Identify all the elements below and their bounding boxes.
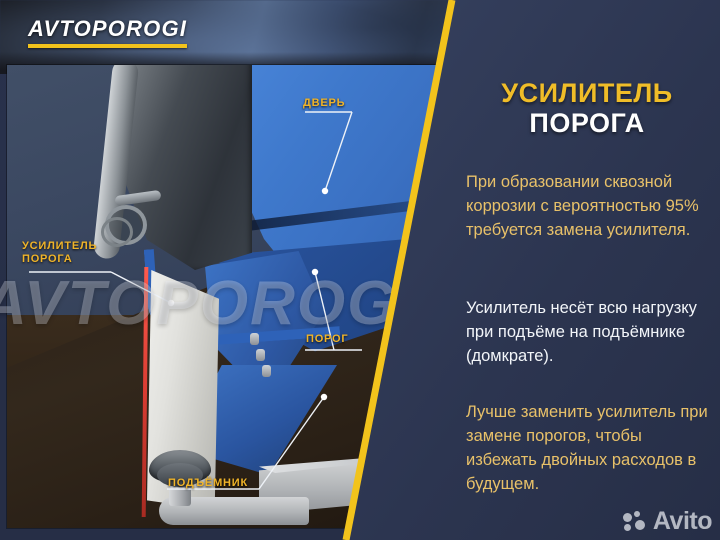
callout-label-reinforcement: УСИЛИТЕЛЬ ПОРОГА [22,240,97,266]
brand-logo: AVTOPOROGI [28,18,187,48]
callout-label-door: ДВЕРЬ [303,97,345,110]
callout-label-sill: ПОРОГ [306,333,348,346]
paragraph-advice: Лучше заменить усилитель при замене поро… [466,400,714,496]
title-line-2: ПОРОГА [462,108,712,138]
brand-logo-underline [28,44,187,48]
sill-stud [262,365,271,377]
sill-stud [256,349,265,361]
paragraph-corrosion: При образовании сквозной коррозии с веро… [466,170,714,242]
callout-label-lift: ПОДЪЁМНИК [168,477,248,490]
ad-image: ДВЕРЬ УСИЛИТЕЛЬ ПОРОГА ПОРОГ ПОДЪЁМНИК A… [0,0,720,540]
avito-wordmark: Avito [653,509,712,534]
title-line-1: УСИЛИТЕЛЬ [462,78,712,108]
sill-stud [250,333,259,345]
avito-dots-icon [623,511,649,533]
brand-logo-text: AVTOPOROGI [28,18,187,40]
illustration-backdrop [7,65,447,528]
paragraph-load: Усилитель несёт всю нагрузку при подъёме… [466,296,714,368]
seal-clip-ring-inner [101,217,133,247]
page-title: УСИЛИТЕЛЬ ПОРОГА [462,78,712,138]
illustration-panel [7,65,447,528]
avito-watermark: Avito [623,509,712,534]
text-column: УСИЛИТЕЛЬ ПОРОГА При образовании сквозно… [444,0,720,540]
